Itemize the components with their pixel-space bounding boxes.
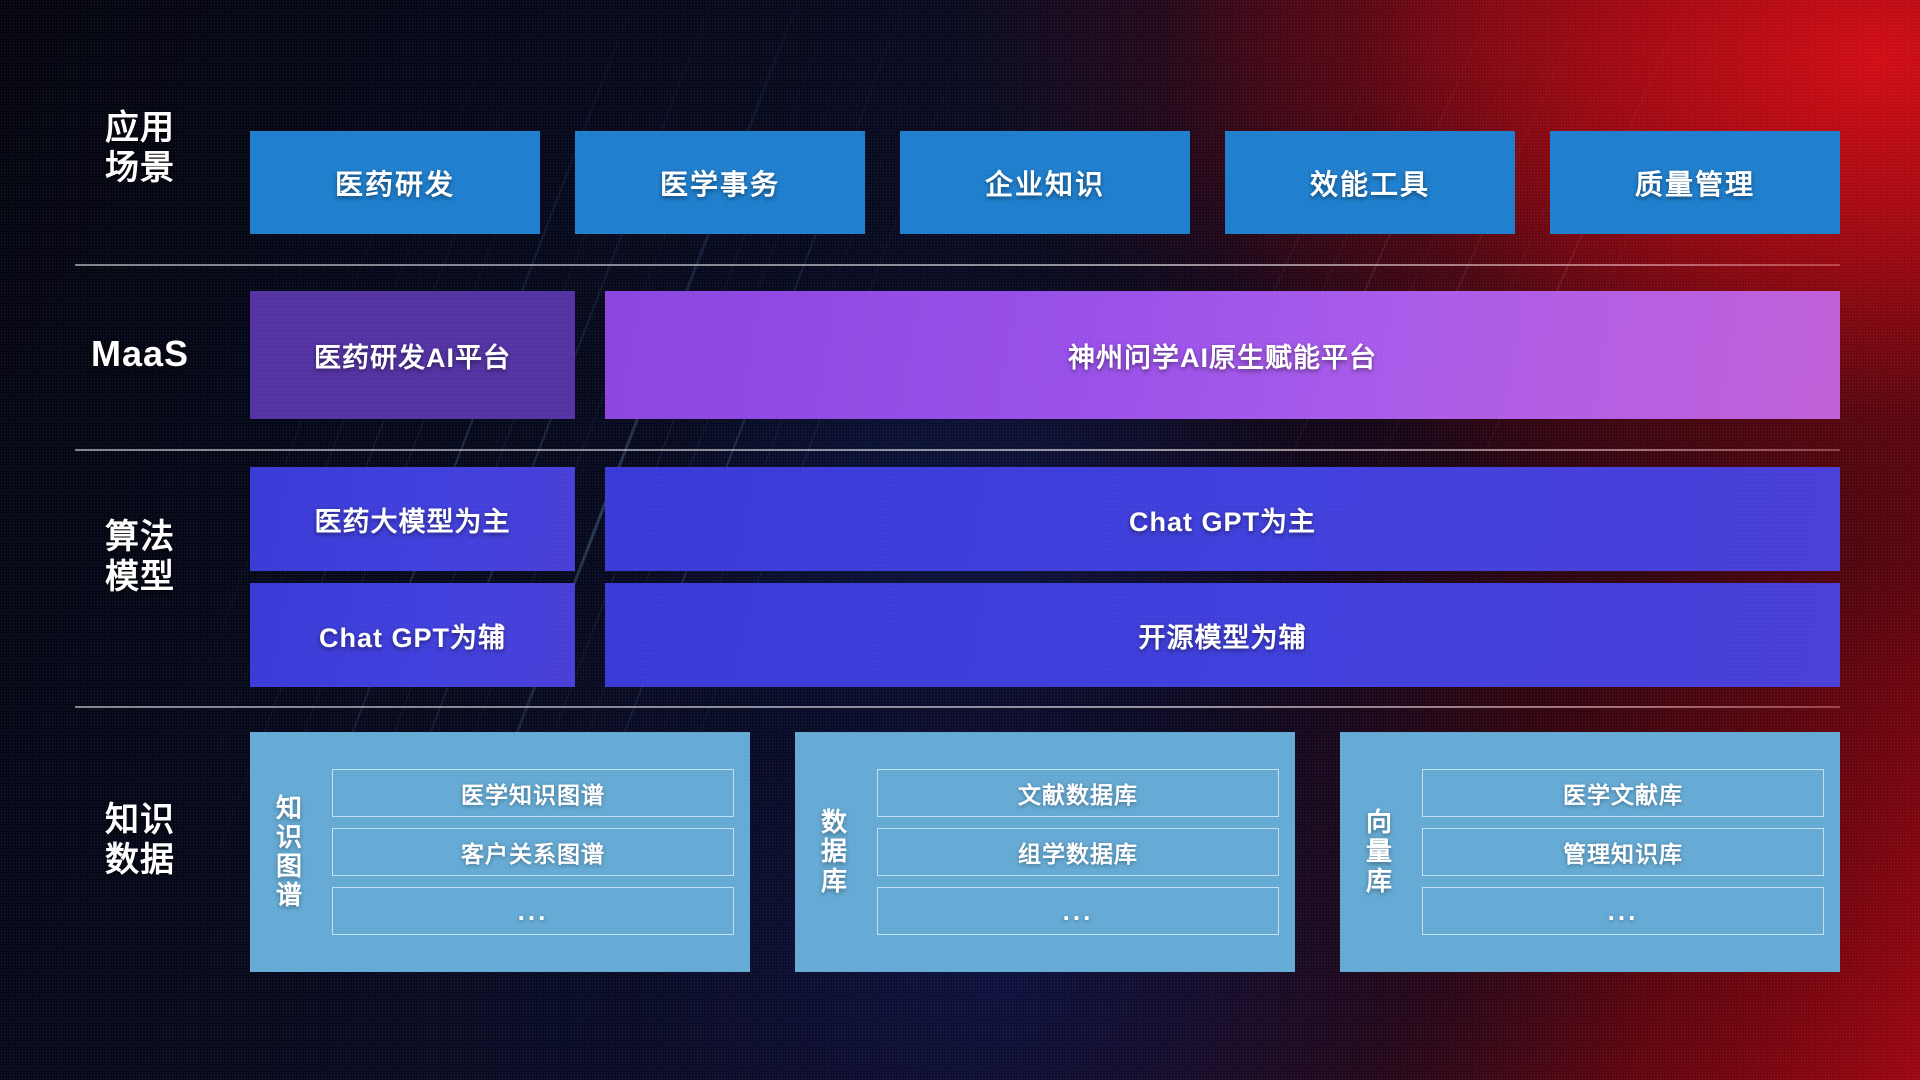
knowledge-group-knowledge-graph-title: 知 识 图 谱 [250, 794, 328, 910]
application-cell-efficiency-tools[interactable]: 效能工具 [1225, 131, 1515, 234]
db-title-char-3: 库 [821, 867, 847, 896]
row-label-algorithm: 算法 模型 [75, 517, 205, 597]
row-label-application: 应用 场景 [75, 108, 205, 188]
divider-application-maas [75, 264, 1840, 266]
application-cell-pharma-rd-label: 医药研发 [335, 163, 455, 203]
algorithm-cell-chatgpt-secondary-label: Chat GPT为辅 [319, 616, 506, 655]
application-cell-enterprise-knowledge-label: 企业知识 [985, 163, 1105, 203]
vec-title-char-2: 量 [1366, 837, 1392, 866]
knowledge-item-medical-knowledge-graph[interactable]: 医学知识图谱 [332, 769, 734, 817]
maas-cell-shenzhou-wenxue-platform[interactable]: 神州问学AI原生赋能平台 [605, 291, 1840, 419]
knowledge-group-database[interactable]: 数 据 库 文献数据库 组学数据库 ... [795, 732, 1295, 972]
knowledge-item-medical-literature-store[interactable]: 医学文献库 [1422, 769, 1824, 817]
knowledge-item-kg-more-label: ... [518, 896, 549, 927]
knowledge-item-customer-relation-graph[interactable]: 客户关系图谱 [332, 828, 734, 876]
divider-maas-algorithm [75, 449, 1840, 451]
divider-algorithm-knowledge [75, 706, 1840, 708]
knowledge-item-db-more-label: ... [1063, 896, 1094, 927]
maas-cell-pharma-ai-platform-label: 医药研发AI平台 [314, 336, 511, 375]
knowledge-item-literature-database[interactable]: 文献数据库 [877, 769, 1279, 817]
row-label-maas-line-1: MaaS [75, 333, 205, 375]
knowledge-item-medical-knowledge-graph-label: 医学知识图谱 [461, 776, 605, 810]
application-cell-quality-management[interactable]: 质量管理 [1550, 131, 1840, 234]
application-cell-enterprise-knowledge[interactable]: 企业知识 [900, 131, 1190, 234]
application-cell-pharma-rd[interactable]: 医药研发 [250, 131, 540, 234]
knowledge-item-medical-literature-store-label: 医学文献库 [1563, 776, 1683, 810]
algorithm-cell-chatgpt-secondary[interactable]: Chat GPT为辅 [250, 583, 575, 687]
row-label-knowledge-line-1: 知识 [75, 800, 205, 840]
algorithm-cell-chatgpt-primary-label: Chat GPT为主 [1129, 500, 1316, 539]
knowledge-group-knowledge-graph-items: 医学知识图谱 客户关系图谱 ... [328, 755, 750, 949]
algorithm-cell-pharma-llm-primary-label: 医药大模型为主 [315, 500, 511, 539]
application-cell-medical-affairs-label: 医学事务 [660, 163, 780, 203]
row-label-knowledge: 知识 数据 [75, 800, 205, 880]
knowledge-item-vec-more[interactable]: ... [1422, 887, 1824, 935]
application-cell-quality-management-label: 质量管理 [1635, 163, 1755, 203]
kg-title-char-3: 图 [276, 852, 302, 881]
knowledge-item-db-more[interactable]: ... [877, 887, 1279, 935]
maas-cell-shenzhou-wenxue-platform-label: 神州问学AI原生赋能平台 [1068, 336, 1377, 375]
knowledge-item-literature-database-label: 文献数据库 [1018, 776, 1138, 810]
knowledge-item-kg-more[interactable]: ... [332, 887, 734, 935]
application-cell-efficiency-tools-label: 效能工具 [1310, 163, 1430, 203]
algorithm-cell-pharma-llm-primary[interactable]: 医药大模型为主 [250, 467, 575, 571]
knowledge-group-vector-database-items: 医学文献库 管理知识库 ... [1418, 755, 1840, 949]
vec-title-char-1: 向 [1366, 808, 1392, 837]
kg-title-char-2: 识 [276, 823, 302, 852]
row-label-algorithm-line-2: 模型 [75, 557, 205, 597]
knowledge-group-vector-database[interactable]: 向 量 库 医学文献库 管理知识库 ... [1340, 732, 1840, 972]
algorithm-cell-opensource-secondary[interactable]: 开源模型为辅 [605, 583, 1840, 687]
algorithm-cell-opensource-secondary-label: 开源模型为辅 [1139, 616, 1307, 655]
db-title-char-1: 数 [821, 808, 847, 837]
slide-canvas: 应用 场景 医药研发 医学事务 企业知识 效能工具 质量管理 MaaS 医药研发… [0, 0, 1920, 1080]
kg-title-char-1: 知 [276, 794, 302, 823]
knowledge-item-vec-more-label: ... [1608, 896, 1639, 927]
application-cell-medical-affairs[interactable]: 医学事务 [575, 131, 865, 234]
knowledge-item-customer-relation-graph-label: 客户关系图谱 [461, 835, 605, 869]
row-label-knowledge-line-2: 数据 [75, 840, 205, 880]
knowledge-group-knowledge-graph[interactable]: 知 识 图 谱 医学知识图谱 客户关系图谱 ... [250, 732, 750, 972]
maas-cell-pharma-ai-platform[interactable]: 医药研发AI平台 [250, 291, 575, 419]
knowledge-group-database-items: 文献数据库 组学数据库 ... [873, 755, 1295, 949]
row-label-application-line-1: 应用 [75, 108, 205, 148]
row-label-algorithm-line-1: 算法 [75, 517, 205, 557]
knowledge-item-management-knowledge-store[interactable]: 管理知识库 [1422, 828, 1824, 876]
row-label-maas: MaaS [75, 333, 205, 375]
knowledge-group-database-title: 数 据 库 [795, 808, 873, 895]
row-label-application-line-2: 场景 [75, 148, 205, 188]
knowledge-item-omics-database-label: 组学数据库 [1018, 835, 1138, 869]
kg-title-char-4: 谱 [276, 881, 302, 910]
knowledge-group-vector-database-title: 向 量 库 [1340, 808, 1418, 895]
vec-title-char-3: 库 [1366, 867, 1392, 896]
algorithm-cell-chatgpt-primary[interactable]: Chat GPT为主 [605, 467, 1840, 571]
knowledge-item-management-knowledge-store-label: 管理知识库 [1563, 835, 1683, 869]
knowledge-item-omics-database[interactable]: 组学数据库 [877, 828, 1279, 876]
db-title-char-2: 据 [821, 837, 847, 866]
